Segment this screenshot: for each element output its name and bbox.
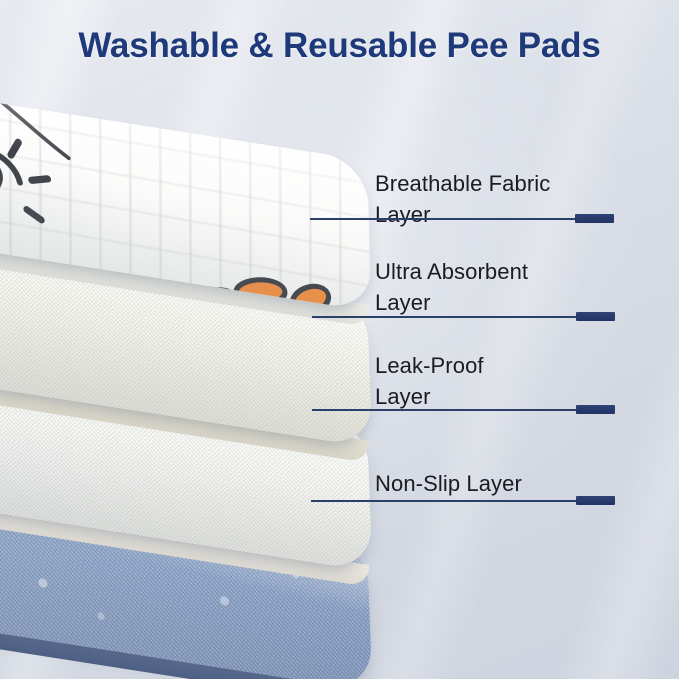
callout-label-non-slip-layer: Non-Slip Layer [375, 468, 635, 499]
leader-line-non-slip-layer [311, 496, 615, 505]
callout-label-ultra-absorbent-layer: Ultra Absorbent Layer [375, 256, 635, 318]
leader-accent-segment [576, 496, 615, 505]
leader-thin-segment [312, 316, 577, 318]
leader-line-breathable-fabric-layer [310, 214, 614, 223]
infographic-canvas: Washable & Reusable Pee Pads [0, 0, 679, 679]
leader-thin-segment [311, 500, 577, 502]
callout-label-leak-proof-layer: Leak-Proof Layer [375, 350, 635, 412]
leader-thin-segment [310, 218, 576, 220]
pad-layer-stack [0, 40, 410, 640]
pad-layer-breathable-fabric [0, 80, 370, 230]
leader-line-leak-proof-layer [312, 405, 615, 414]
leader-accent-segment [576, 405, 615, 414]
leader-line-ultra-absorbent-layer [312, 312, 615, 321]
leader-thin-segment [312, 409, 577, 411]
leader-accent-segment [576, 312, 615, 321]
leader-accent-segment [575, 214, 614, 223]
page-title: Washable & Reusable Pee Pads [0, 26, 679, 66]
